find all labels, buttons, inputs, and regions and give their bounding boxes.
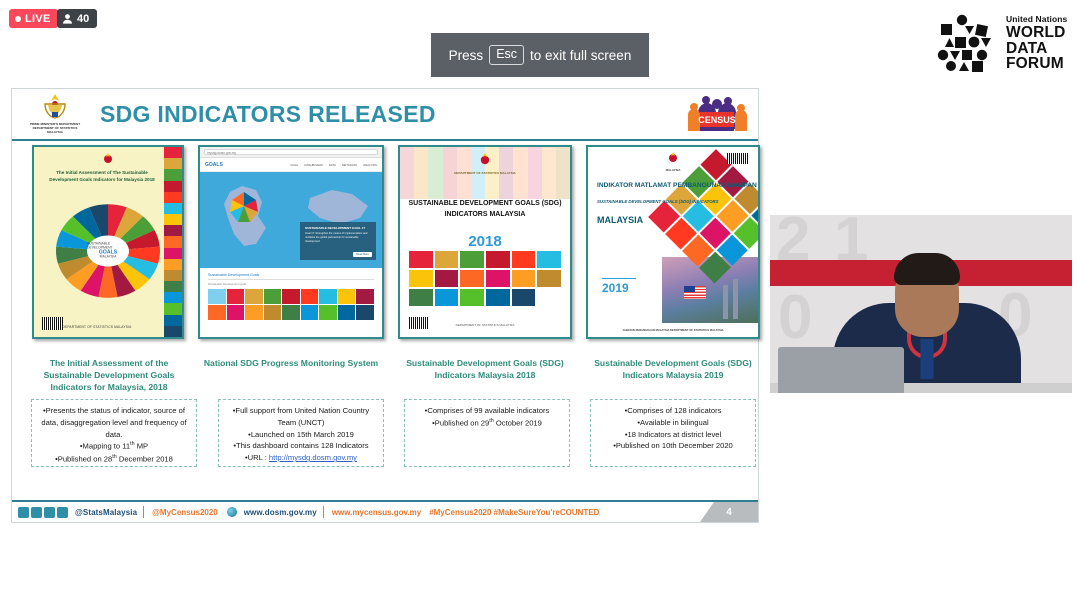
card-4-rule <box>602 278 636 280</box>
publication-card-1[interactable]: The Initial Assessment of The Sustainabl… <box>32 145 184 339</box>
wdf-line-1: WORLD <box>1006 25 1067 41</box>
stream-viewer-page: LIVE 40 Press Esc to exit full screen <box>0 0 1080 607</box>
card-4-title-ms: INDIKATOR MATLAMAT PEMBANGUNAN MAMPAN <box>597 181 757 190</box>
slide-footer: @StatsMalaysia @MyCensus2020 www.dosm.go… <box>12 500 758 522</box>
dashboard-lower-section: Sustainable Development Goals Sustainabl… <box>200 268 382 325</box>
card-3-year: 2018 <box>400 233 570 250</box>
youtube-icon[interactable] <box>57 507 68 518</box>
globe-icon <box>227 507 237 517</box>
card-1-cover-footer: DEPARTMENT OF STATISTICS MALAYSIA <box>34 325 160 329</box>
map-card-title: SUSTAINABLE DEVELOPMENT GOAL 17 <box>305 226 371 230</box>
card-2-caption: National SDG Progress Monitoring System <box>202 357 380 369</box>
card-4-bullet-3: •18 Indicators at district level <box>595 429 751 441</box>
card-4-bullet-4: •Published on 10th December 2020 <box>595 440 751 452</box>
card-3-bullets: •Comprises of 99 available indicators •P… <box>404 399 570 467</box>
card-1-wheel-hub: SUSTAINABLE DEVELOPMENT GOALS MALAYSIA <box>87 236 129 267</box>
card-2-bullet-3: •This dashboard contains 128 Indicators <box>223 440 379 452</box>
live-dot-icon <box>15 16 21 22</box>
card-4-barcode <box>727 153 749 164</box>
card-3-cover: DEPARTMENT OF STATISTICS MALAYSIA SUSTAI… <box>400 147 570 337</box>
hint-suffix: to exit full screen <box>530 48 631 63</box>
speaker-video-panel[interactable]: 2 1 0 0 <box>770 215 1072 393</box>
card-4-title-en: SUSTAINABLE DEVELOPMENT GOALS (SDG) INDI… <box>597 199 719 205</box>
card-2-bullet-1: •Full support from United Nation Country… <box>223 405 379 429</box>
card-3-caption: Sustainable Development Goals (SDG) Indi… <box>394 357 576 381</box>
menu-item-dashboard[interactable]: DASHBOARD <box>304 163 322 167</box>
person-icon <box>63 14 72 24</box>
card-2-bullet-2: •Launched on 15th March 2019 <box>223 429 379 441</box>
slide-header: PRIME MINISTER'S DEPARTMENT DEPARTMENT O… <box>12 89 758 141</box>
footer-website-secondary: www.mycensus.gov.my <box>332 508 421 517</box>
card-3-bullet-1: •Comprises of 99 available indicators <box>409 405 565 417</box>
world-data-forum-logo: United Nations WORLD DATA FORUM <box>935 14 1067 72</box>
speaker-tie <box>921 339 934 379</box>
card-3-bullet-2: •Published on 29th October 2019 <box>409 417 565 429</box>
svg-text:CENSUS: CENSUS <box>698 115 736 125</box>
card-1-bullet-2: •Mapping to 11th MP <box>36 440 192 452</box>
live-label: LIVE <box>25 13 51 25</box>
card-1-bullets: •Presents the status of indicator, sourc… <box>31 399 197 467</box>
petronas-tower-1 <box>733 279 738 319</box>
wdf-organization: United Nations <box>1006 15 1067 24</box>
footer-handle-secondary: @MyCensus2020 <box>152 508 218 517</box>
mysdg-url-link[interactable]: http://mysdg.dosm.gov.my <box>269 453 357 462</box>
speaker-hair <box>894 253 960 285</box>
backdrop-digit-3: 0 <box>778 287 812 349</box>
census-malaysia-logo-icon: CENSUS <box>686 93 748 137</box>
card-1-crest-icon <box>100 153 116 168</box>
map-card-readmore-button[interactable]: Read More <box>353 252 372 257</box>
malaysia-flag-canton <box>684 286 695 292</box>
footer-divider-2 <box>323 506 324 518</box>
menu-item-goal[interactable]: GOAL <box>290 163 298 167</box>
presentation-slide: PRIME MINISTER'S DEPARTMENT DEPARTMENT O… <box>11 88 759 523</box>
browser-url-field[interactable]: mysdg.dosm.gov.my <box>204 149 378 155</box>
twitter-icon[interactable] <box>44 507 55 518</box>
menu-item-analysis[interactable]: ANALYSIS <box>363 163 377 167</box>
card-1-cover-title: The Initial Assessment of The Sustainabl… <box>44 170 160 184</box>
publication-card-2[interactable]: mysdg.dosm.gov.my GOALS GOAL DASHBOARD D… <box>198 145 384 339</box>
footer-hashtags: #MyCensus2020 #MakeSureYou'reCOUNTED <box>429 508 599 517</box>
card-4-bullet-2: •Available in bilingual <box>595 417 751 429</box>
card-1-bullet-1: •Presents the status of indicator, sourc… <box>36 405 192 440</box>
malaysia-crest-icon <box>40 92 70 120</box>
dashboard-navbar: GOALS GOAL DASHBOARD DATA METADATA ANALY… <box>200 158 382 172</box>
lower-heading: Sustainable Development Goals <box>208 273 374 280</box>
card-4-year: 2019 <box>602 281 629 295</box>
facebook-icon[interactable] <box>18 507 29 518</box>
footer-divider-1 <box>143 506 144 518</box>
card-2-browser: mysdg.dosm.gov.my GOALS GOAL DASHBOARD D… <box>200 147 382 337</box>
menu-item-data[interactable]: DATA <box>329 163 336 167</box>
card-4-crest-icon <box>665 152 681 167</box>
card-4-cover: MALAYSIA INDIKATOR MATLAMAT PEMBANGUNAN … <box>588 147 758 337</box>
hint-prefix: Press <box>449 48 484 63</box>
footer-handle-primary: @StatsMalaysia <box>75 508 137 517</box>
lower-subheading: Sustainable Development Goals <box>208 283 374 286</box>
publication-card-4[interactable]: MALAYSIA INDIKATOR MATLAMAT PEMBANGUNAN … <box>586 145 760 339</box>
malaysia-map-region: SUSTAINABLE DEVELOPMENT GOAL 17 Goal 17:… <box>200 172 382 268</box>
card-3-department: DEPARTMENT OF STATISTICS MALAYSIA <box>400 171 570 175</box>
petronas-tower-2 <box>723 285 728 319</box>
dosm-crest-caption: PRIME MINISTER'S DEPARTMENT DEPARTMENT O… <box>26 122 84 135</box>
card-4-country-small: MALAYSIA <box>588 168 758 172</box>
wdf-line-3: FORUM <box>1006 56 1067 72</box>
card-4-bullet-1: •Comprises of 128 indicators <box>595 405 751 417</box>
esc-key-label: Esc <box>489 45 524 65</box>
card-2-bullets: •Full support from United Nation Country… <box>218 399 384 467</box>
card-1-caption: The Initial Assessment of the Sustainabl… <box>26 357 192 394</box>
exit-fullscreen-hint: Press Esc to exit full screen <box>431 33 649 77</box>
menu-item-metadata[interactable]: METADATA <box>342 163 357 167</box>
map-card-text: Goal 17: Strengthen the means of impleme… <box>305 232 371 243</box>
slide-page-number: 4 <box>700 502 758 522</box>
card-1-goal-strip <box>164 147 182 337</box>
speaker-laptop <box>778 347 904 393</box>
map-info-card: SUSTAINABLE DEVELOPMENT GOAL 17 Goal 17:… <box>300 222 376 260</box>
card-3-sdg-grid <box>409 251 561 306</box>
sdg-tile-grid <box>208 289 374 320</box>
card-1-cover: The Initial Assessment of The Sustainabl… <box>34 147 182 337</box>
slide-title: SDG INDICATORS RELEASED <box>100 101 436 128</box>
dosm-crest: PRIME MINISTER'S DEPARTMENT DEPARTMENT O… <box>26 92 84 135</box>
card-1-bullet-3: •Published on 28th December 2018 <box>36 453 192 465</box>
viewer-count-badge: 40 <box>57 9 97 28</box>
card-4-bullets: •Comprises of 128 indicators •Available … <box>590 399 756 467</box>
publication-card-3[interactable]: DEPARTMENT OF STATISTICS MALAYSIA SUSTAI… <box>398 145 572 339</box>
dashboard-menu[interactable]: GOAL DASHBOARD DATA METADATA ANALYSIS <box>290 163 377 167</box>
wdf-logo-text: United Nations WORLD DATA FORUM <box>1006 15 1067 72</box>
card-1-hub-country: MALAYSIA <box>100 256 117 260</box>
card-3-cover-footer: DEPARTMENT OF STATISTICS MALAYSIA <box>400 323 570 327</box>
card-2-bullet-4: •URL : http://mysdg.dosm.gov.my <box>223 452 379 464</box>
instagram-icon[interactable] <box>31 507 42 518</box>
card-4-cover-footer: JABATAN PERANGKAAN MALAYSIA DEPARTMENT O… <box>588 329 758 333</box>
browser-chrome-bar: mysdg.dosm.gov.my <box>200 147 382 158</box>
card-3-crest-icon <box>477 153 494 169</box>
wdf-shapes-icon <box>935 14 997 72</box>
footer-website-primary: www.dosm.gov.my <box>244 508 317 517</box>
live-badge: LIVE <box>9 9 58 28</box>
card-4-caption: Sustainable Development Goals (SDG) Indi… <box>582 357 764 381</box>
social-icons[interactable] <box>18 507 68 518</box>
card-3-cover-title: SUSTAINABLE DEVELOPMENT GOALS (SDG) INDI… <box>406 199 564 220</box>
card-1-sdg-wheel: SUSTAINABLE DEVELOPMENT GOALS MALAYSIA <box>50 199 166 303</box>
dashboard-logo: GOALS <box>205 162 223 168</box>
card-4-country-big: MALAYSIA <box>597 215 643 225</box>
viewer-count-label: 40 <box>77 13 89 25</box>
publication-cards: The Initial Assessment of The Sustainabl… <box>12 145 758 345</box>
wdf-line-2: DATA <box>1006 41 1067 57</box>
